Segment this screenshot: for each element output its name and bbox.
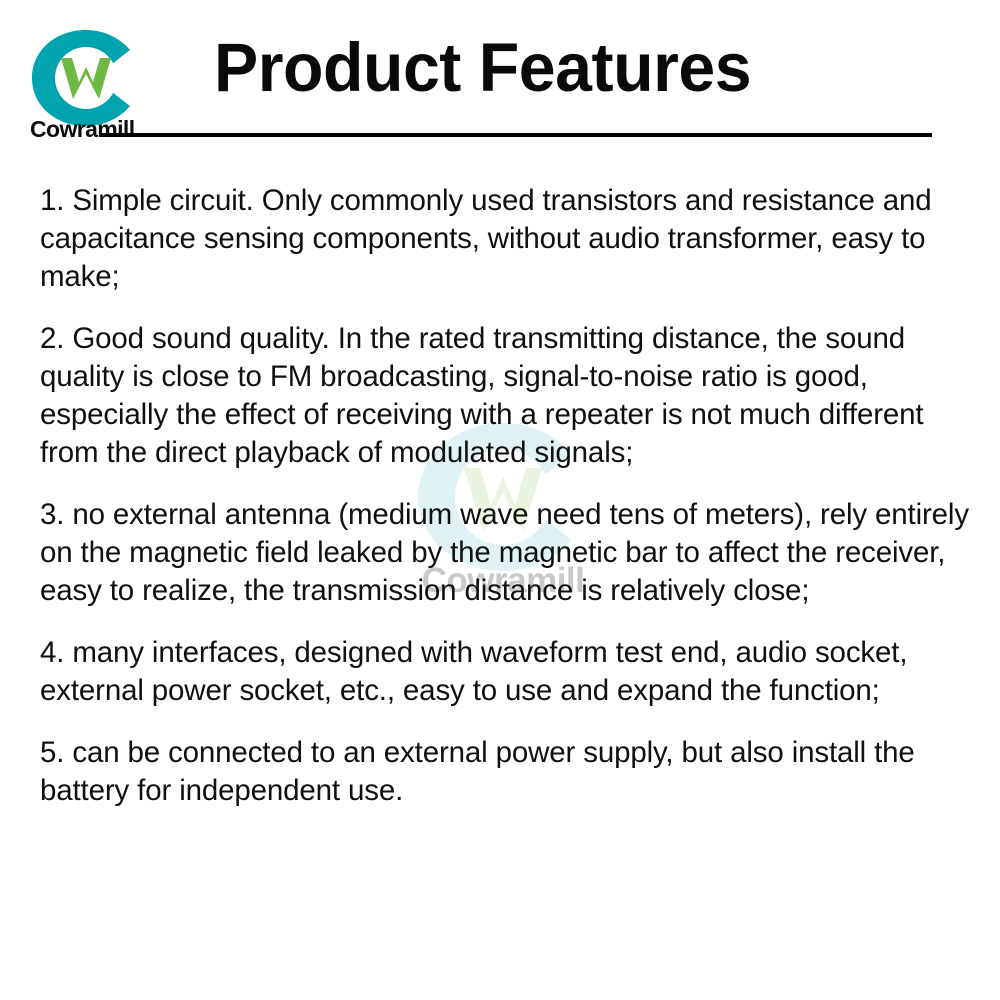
brand-logo: Cowramill xyxy=(28,26,144,138)
feature-item: 3. no external antenna (medium wave need… xyxy=(40,496,974,610)
features-list: 1. Simple circuit. Only commonly used tr… xyxy=(40,182,974,810)
feature-item: 5. can be connected to an external power… xyxy=(40,734,974,810)
cowramill-logo-icon xyxy=(28,26,144,130)
feature-item: 1. Simple circuit. Only commonly used tr… xyxy=(40,182,974,296)
brand-name: Cowramill xyxy=(30,118,160,141)
product-features-page: Cowramill Cowramill Product Features 1. … xyxy=(0,0,1000,1000)
header-divider xyxy=(100,133,932,137)
feature-item: 4. many interfaces, designed with wavefo… xyxy=(40,634,974,710)
feature-item: 2. Good sound quality. In the rated tran… xyxy=(40,320,974,472)
document-header: Cowramill Product Features xyxy=(0,0,1000,152)
page-title: Product Features xyxy=(214,33,751,102)
